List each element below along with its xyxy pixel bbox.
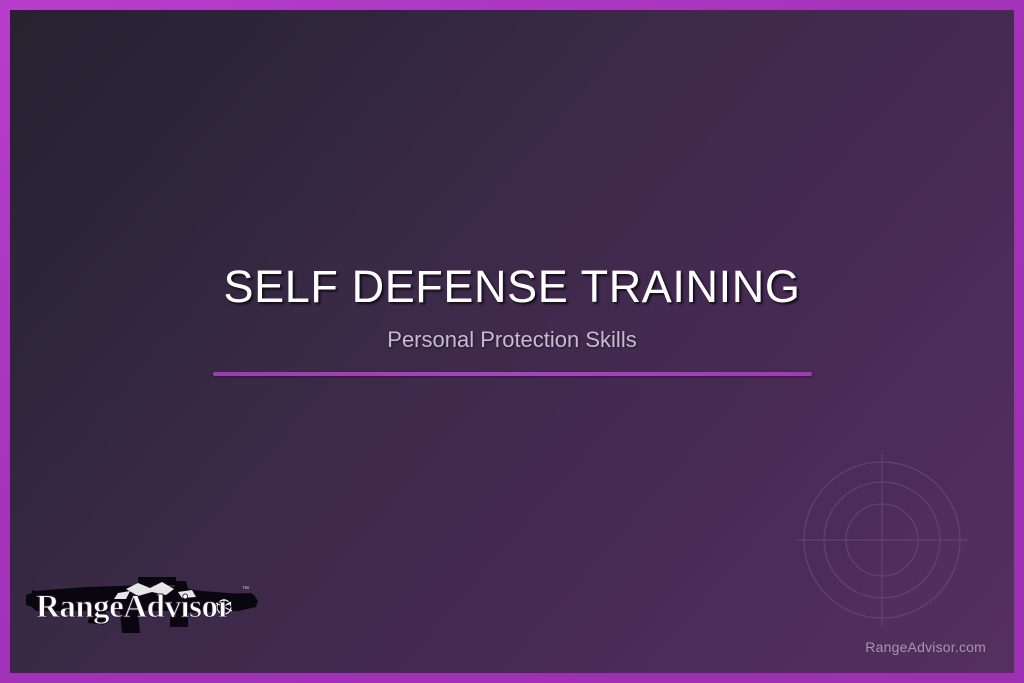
slide-canvas: SELF DEFENSE TRAINING Personal Protectio… [10,10,1014,673]
brand-logo: RangeAdvisor ™ [26,561,262,643]
site-watermark: RangeAdvisor.com [865,639,986,655]
title-block: SELF DEFENSE TRAINING Personal Protectio… [10,10,1014,651]
page-subtitle: Personal Protection Skills [387,327,636,353]
title-divider-rule [213,372,812,376]
brand-wordmark: RangeAdvisor [36,589,232,625]
slide-frame: SELF DEFENSE TRAINING Personal Protectio… [0,0,1024,683]
page-title: SELF DEFENSE TRAINING [224,263,801,312]
trademark-mark: ™ [242,586,249,593]
